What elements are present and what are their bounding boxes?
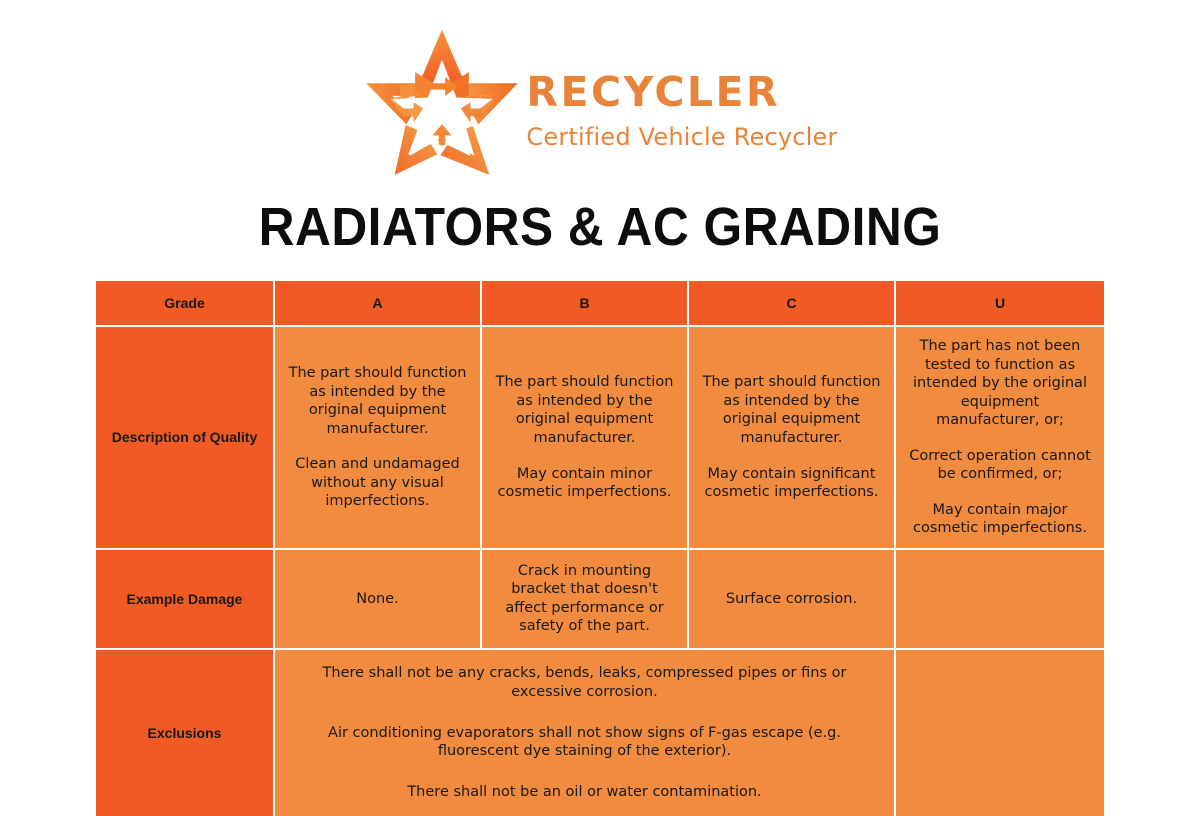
cell-description-u: The part has not been tested to function… <box>896 327 1104 550</box>
cell-example-damage-u <box>896 550 1104 650</box>
cell-description-b: The part should function as intended by … <box>482 327 689 550</box>
column-header-u: U <box>896 281 1104 327</box>
recycling-star-icon <box>362 28 522 178</box>
cell-paragraph: Air conditioning evaporators shall not s… <box>301 724 868 762</box>
brand-wordmark: RECYCLER Certified Vehicle Recycler <box>526 72 837 149</box>
table-row-exclusions: Exclusions There shall not be any cracks… <box>96 650 1104 816</box>
cell-paragraph: The part should function as intended by … <box>494 373 675 447</box>
cell-paragraph: May contain major cosmetic imperfections… <box>908 501 1092 538</box>
cell-paragraph: There shall not be an oil or water conta… <box>301 783 868 802</box>
cell-paragraph: The part should function as intended by … <box>701 373 882 447</box>
grading-table: Grade A B C U Description of Quality The… <box>96 281 1104 816</box>
cell-paragraph: None. <box>287 590 468 609</box>
brand-logo: RECYCLER Certified Vehicle Recycler <box>0 28 1200 178</box>
cell-exclusions-u <box>896 650 1104 816</box>
cell-exclusions-merged: There shall not be any cracks, bends, le… <box>275 650 896 816</box>
grading-chart-page: RECYCLER Certified Vehicle Recycler RADI… <box>0 0 1200 800</box>
row-label-example-damage: Example Damage <box>96 550 275 650</box>
column-header-c: C <box>689 281 896 327</box>
cell-paragraph: May contain significant cosmetic imperfe… <box>701 465 882 502</box>
brand-name: RECYCLER <box>526 72 837 113</box>
row-label-description-of-quality: Description of Quality <box>96 327 275 550</box>
column-header-grade: Grade <box>96 281 275 327</box>
column-header-a: A <box>275 281 482 327</box>
cell-description-c: The part should function as intended by … <box>689 327 896 550</box>
cell-example-damage-b: Crack in mounting bracket that doesn't a… <box>482 550 689 650</box>
cell-paragraph: The part should function as intended by … <box>287 364 468 438</box>
cell-paragraph: Correct operation cannot be confirmed, o… <box>908 447 1092 484</box>
cell-paragraph: Clean and undamaged without any visual i… <box>287 455 468 511</box>
table-row-example-damage: Example Damage None. Crack in mounting b… <box>96 550 1104 650</box>
cell-example-damage-a: None. <box>275 550 482 650</box>
cell-paragraph: There shall not be any cracks, bends, le… <box>301 664 868 702</box>
row-label-exclusions: Exclusions <box>96 650 275 816</box>
column-header-b: B <box>482 281 689 327</box>
cell-paragraph: May contain minor cosmetic imperfections… <box>494 465 675 502</box>
brand-tagline: Certified Vehicle Recycler <box>526 125 837 149</box>
cell-example-damage-c: Surface corrosion. <box>689 550 896 650</box>
page-title: RADIATORS & AC GRADING <box>48 196 1152 258</box>
table-row-description-of-quality: Description of Quality The part should f… <box>96 327 1104 550</box>
cell-paragraph: Crack in mounting bracket that doesn't a… <box>494 562 675 636</box>
cell-paragraph: Surface corrosion. <box>701 590 882 609</box>
cell-paragraph: The part has not been tested to function… <box>908 337 1092 430</box>
cell-description-a: The part should function as intended by … <box>275 327 482 550</box>
table-header-row: Grade A B C U <box>96 281 1104 327</box>
